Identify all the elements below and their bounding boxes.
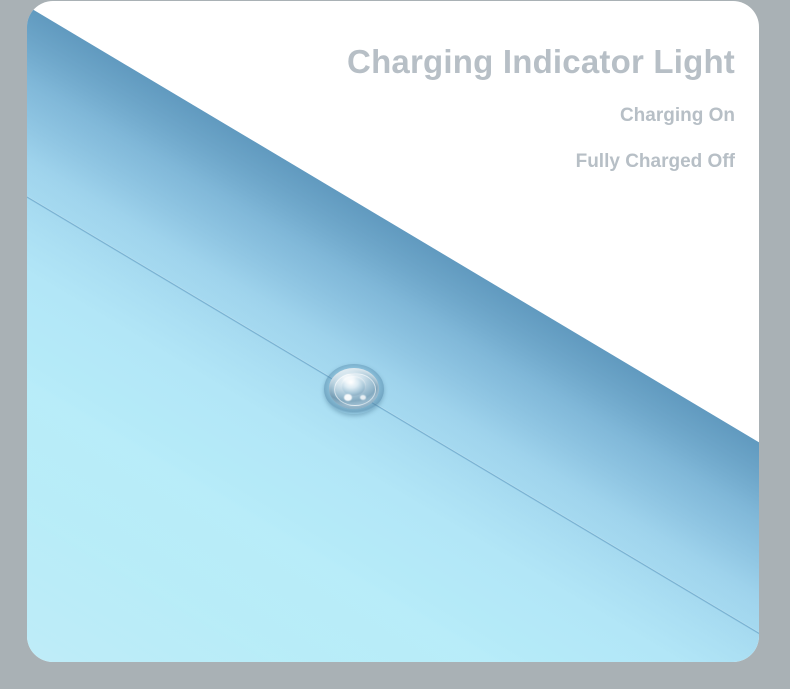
led-highlight-top-icon (343, 375, 355, 383)
led-highlight-left-icon (344, 394, 352, 401)
product-highlight-sheen (27, 109, 747, 662)
caption-title: Charging Indicator Light (327, 45, 739, 78)
photo-plate: Charging Indicator Light Charging On Ful… (27, 1, 759, 662)
product-body (27, 1, 759, 662)
caption-overlay: Charging Indicator Light Charging On Ful… (327, 45, 739, 172)
caption-spacer-1 (327, 78, 739, 106)
caption-status-charging: Charging On (327, 106, 739, 126)
product-bevel-shading (27, 1, 759, 662)
led-highlight-right-icon (360, 395, 366, 400)
caption-spacer-2 (327, 126, 739, 152)
caption-status-fully-charged: Fully Charged Off (327, 152, 739, 172)
product-figure: Charging Indicator Light Charging On Ful… (0, 0, 790, 689)
product-seam-line (27, 1, 759, 662)
charging-indicator-led (324, 364, 384, 414)
